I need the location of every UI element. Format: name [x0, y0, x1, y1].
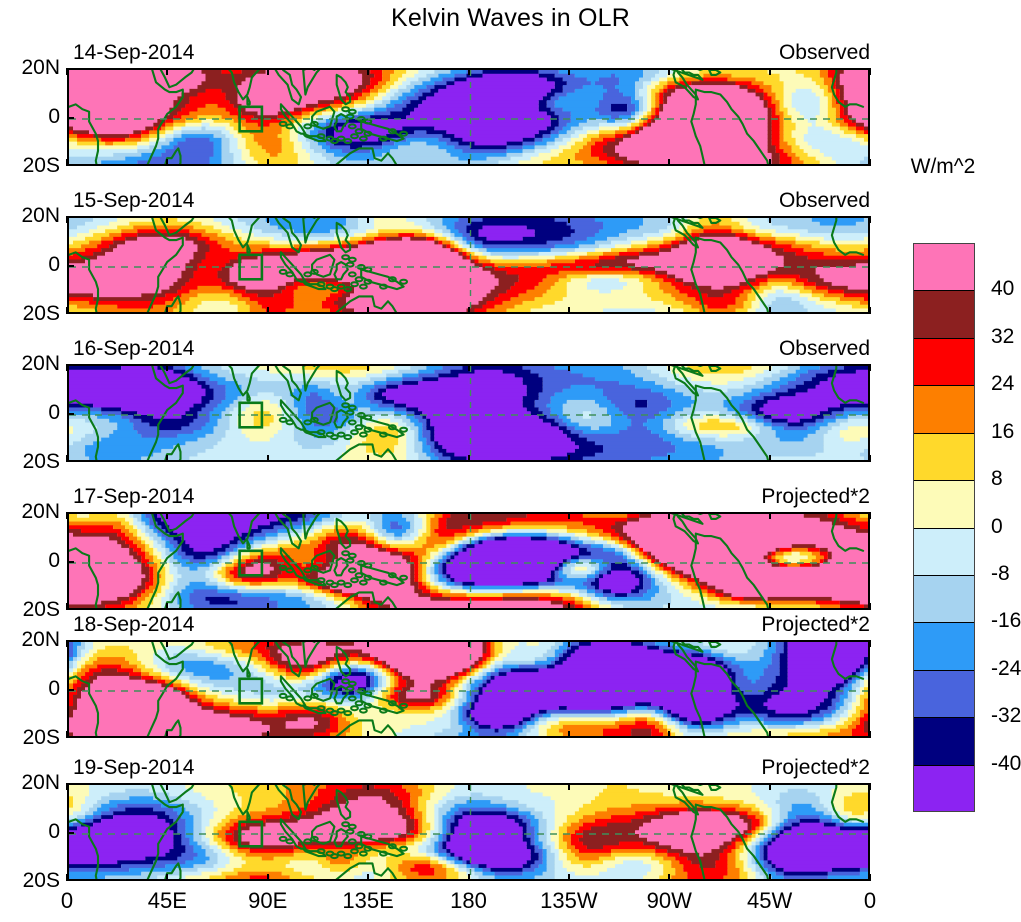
y-tick-label: 20S [0, 154, 60, 178]
x-tick-mark [166, 159, 168, 166]
colorbar-tick-label: -32 [991, 704, 1021, 728]
x-tick-label: 90W [624, 888, 714, 914]
x-tick-label: 135E [323, 888, 413, 914]
x-tick-mark [367, 307, 369, 314]
x-tick-mark [568, 307, 570, 314]
x-tick-mark [668, 783, 670, 790]
x-tick-mark [468, 874, 470, 881]
x-tick-mark [367, 512, 369, 519]
y-tick-label: 0 [0, 677, 60, 701]
y-tick-mark [67, 117, 74, 119]
x-tick-mark [166, 216, 168, 223]
x-tick-label: 180 [424, 888, 514, 914]
x-tick-mark [869, 364, 871, 371]
x-tick-mark [568, 783, 570, 790]
x-tick-label: 0 [825, 888, 915, 914]
x-tick-mark [668, 307, 670, 314]
y-tick-label: 20S [0, 450, 60, 474]
panel-source-label-4: Projected*2 [550, 485, 870, 509]
x-tick-mark [869, 159, 871, 166]
x-tick-mark [769, 68, 771, 75]
x-tick-mark [367, 68, 369, 75]
x-tick-mark [869, 216, 871, 223]
panel-date-label-2: 15-Sep-2014 [73, 189, 194, 213]
x-tick-label: 135W [524, 888, 614, 914]
x-tick-mark [668, 512, 670, 519]
colorbar-tick-label: -40 [991, 752, 1021, 776]
x-tick-mark [769, 640, 771, 647]
y-tick-label: 20N [0, 628, 60, 652]
x-tick-mark [468, 216, 470, 223]
x-tick-mark [468, 455, 470, 462]
panel-source-label-3: Observed [550, 337, 870, 361]
x-tick-mark [367, 783, 369, 790]
x-tick-mark [367, 159, 369, 166]
x-tick-mark [267, 874, 269, 881]
panel-source-label-6: Projected*2 [550, 756, 870, 780]
x-tick-mark [668, 364, 670, 371]
x-tick-mark [568, 455, 570, 462]
x-tick-mark [769, 874, 771, 881]
x-tick-mark [367, 455, 369, 462]
panel-date-label-5: 18-Sep-2014 [73, 613, 194, 637]
x-tick-mark [468, 159, 470, 166]
y-tick-label: 20S [0, 726, 60, 750]
x-tick-mark [166, 783, 168, 790]
y-tick-label: 0 [0, 549, 60, 573]
y-tick-mark [67, 832, 74, 834]
x-tick-mark [568, 512, 570, 519]
x-tick-mark [568, 364, 570, 371]
x-tick-mark [869, 603, 871, 610]
colorbar-tick-label: -24 [991, 657, 1021, 681]
map-panel-3 [67, 364, 870, 462]
x-tick-mark [166, 455, 168, 462]
y-tick-label: 0 [0, 401, 60, 425]
figure-canvas: Kelvin Waves in OLR 14-Sep-2014Observed2… [0, 0, 1021, 922]
x-tick-mark [166, 307, 168, 314]
x-tick-mark [367, 874, 369, 881]
x-tick-mark [267, 640, 269, 647]
y-tick-mark [67, 413, 74, 415]
x-tick-label: 90E [223, 888, 313, 914]
map-panel-6 [67, 783, 870, 881]
x-tick-mark [568, 603, 570, 610]
panel-source-label-5: Projected*2 [550, 613, 870, 637]
x-tick-mark [668, 640, 670, 647]
map-panel-1 [67, 68, 870, 166]
y-tick-label: 20N [0, 771, 60, 795]
y-tick-mark [67, 640, 74, 642]
x-tick-mark [568, 216, 570, 223]
panel-date-label-6: 19-Sep-2014 [73, 756, 194, 780]
x-tick-mark [267, 783, 269, 790]
x-tick-mark [468, 731, 470, 738]
x-tick-mark [367, 731, 369, 738]
x-tick-mark [267, 512, 269, 519]
y-tick-mark [67, 879, 74, 881]
colorbar-tick-label: 8 [991, 467, 1003, 491]
x-tick-mark [668, 216, 670, 223]
y-tick-mark [67, 265, 74, 267]
x-tick-mark [869, 731, 871, 738]
x-tick-mark [267, 307, 269, 314]
y-tick-label: 0 [0, 820, 60, 844]
x-tick-mark [367, 364, 369, 371]
x-tick-mark [267, 364, 269, 371]
x-tick-mark [769, 455, 771, 462]
y-tick-label: 20N [0, 204, 60, 228]
y-tick-label: 20N [0, 352, 60, 376]
x-tick-mark [769, 783, 771, 790]
x-tick-mark [769, 731, 771, 738]
x-tick-mark [166, 68, 168, 75]
x-tick-mark [367, 640, 369, 647]
colorbar-tick-label: -16 [991, 609, 1021, 633]
y-tick-mark [67, 216, 74, 218]
panel-source-label-1: Observed [550, 41, 870, 65]
figure-title: Kelvin Waves in OLR [0, 4, 1021, 33]
colorbar-tick-label: 0 [991, 515, 1003, 539]
x-tick-mark [367, 216, 369, 223]
x-tick-mark [769, 216, 771, 223]
x-tick-mark [468, 307, 470, 314]
x-tick-mark [166, 364, 168, 371]
x-tick-mark [468, 512, 470, 519]
olr-field-5 [69, 642, 870, 738]
colorbar-unit-label: W/m^2 [873, 155, 1013, 179]
colorbar-tick-label: 24 [991, 372, 1014, 396]
y-tick-mark [67, 512, 74, 514]
x-tick-mark [267, 731, 269, 738]
x-tick-mark [769, 364, 771, 371]
olr-field-2 [69, 218, 870, 314]
x-tick-mark [668, 159, 670, 166]
y-tick-label: 20N [0, 500, 60, 524]
map-panel-2 [67, 216, 870, 314]
y-tick-label: 20S [0, 598, 60, 622]
x-tick-mark [568, 640, 570, 647]
olr-field-3 [69, 366, 870, 462]
x-tick-mark [166, 512, 168, 519]
x-tick-mark [568, 731, 570, 738]
x-tick-mark [468, 783, 470, 790]
y-tick-mark [67, 460, 74, 462]
x-tick-mark [869, 874, 871, 881]
x-tick-mark [267, 603, 269, 610]
map-panel-5 [67, 640, 870, 738]
x-tick-mark [869, 307, 871, 314]
y-tick-mark [67, 561, 74, 563]
panel-date-label-3: 16-Sep-2014 [73, 337, 194, 361]
x-tick-mark [869, 455, 871, 462]
x-tick-mark [668, 455, 670, 462]
y-tick-mark [67, 164, 74, 166]
x-tick-mark [568, 874, 570, 881]
x-tick-label: 45W [725, 888, 815, 914]
x-tick-mark [468, 68, 470, 75]
olr-field-1 [69, 70, 870, 166]
x-tick-mark [267, 68, 269, 75]
x-tick-label: 0 [22, 888, 112, 914]
y-tick-mark [67, 736, 74, 738]
y-tick-label: 20N [0, 56, 60, 80]
x-tick-mark [166, 640, 168, 647]
map-panel-4 [67, 512, 870, 610]
y-tick-mark [67, 68, 74, 70]
x-tick-mark [166, 731, 168, 738]
colorbar-frame [913, 243, 975, 812]
x-tick-mark [267, 455, 269, 462]
x-tick-mark [769, 307, 771, 314]
x-tick-mark [869, 68, 871, 75]
panel-date-label-1: 14-Sep-2014 [73, 41, 194, 65]
x-tick-mark [668, 874, 670, 881]
colorbar-tick-label: 32 [991, 325, 1014, 349]
x-tick-mark [869, 783, 871, 790]
y-tick-mark [67, 364, 74, 366]
x-tick-mark [869, 512, 871, 519]
x-tick-mark [568, 68, 570, 75]
x-tick-mark [769, 512, 771, 519]
y-tick-mark [67, 312, 74, 314]
y-tick-label: 0 [0, 253, 60, 277]
panel-date-label-4: 17-Sep-2014 [73, 485, 194, 509]
x-tick-mark [166, 874, 168, 881]
x-tick-mark [166, 603, 168, 610]
x-tick-mark [468, 364, 470, 371]
x-tick-mark [367, 603, 369, 610]
olr-field-6 [69, 785, 870, 881]
x-tick-mark [869, 640, 871, 647]
colorbar-tick-label: 16 [991, 420, 1014, 444]
x-tick-mark [668, 603, 670, 610]
x-tick-mark [267, 159, 269, 166]
y-tick-mark [67, 783, 74, 785]
x-tick-mark [668, 68, 670, 75]
x-tick-mark [668, 731, 670, 738]
colorbar-tick-label: 40 [991, 277, 1014, 301]
x-tick-mark [769, 603, 771, 610]
x-tick-label: 45E [122, 888, 212, 914]
x-tick-mark [468, 640, 470, 647]
y-tick-label: 20S [0, 302, 60, 326]
x-tick-mark [468, 603, 470, 610]
y-tick-mark [67, 689, 74, 691]
olr-field-4 [69, 514, 870, 610]
x-tick-mark [568, 159, 570, 166]
y-tick-mark [67, 608, 74, 610]
panel-source-label-2: Observed [550, 189, 870, 213]
y-tick-label: 0 [0, 105, 60, 129]
x-tick-mark [769, 159, 771, 166]
colorbar-tick-label: -8 [991, 562, 1010, 586]
x-tick-mark [267, 216, 269, 223]
